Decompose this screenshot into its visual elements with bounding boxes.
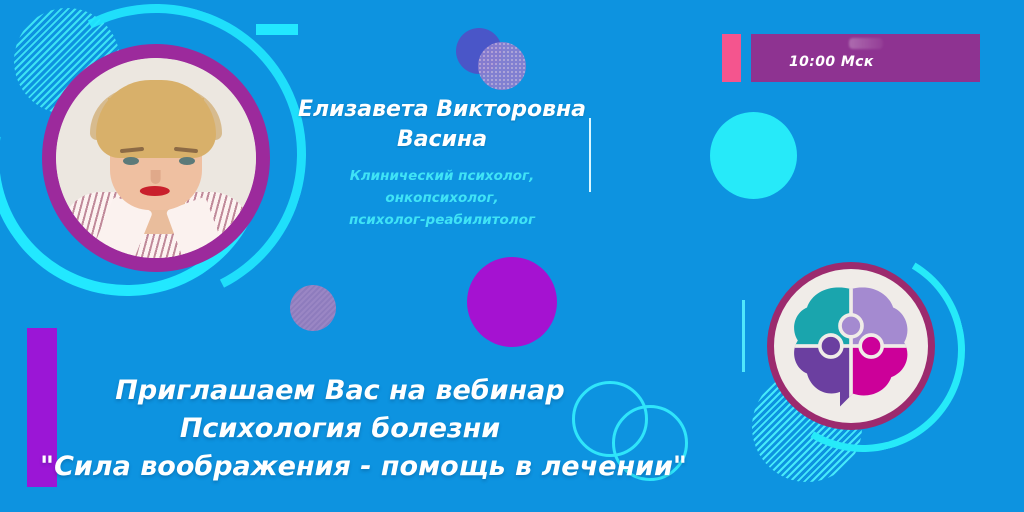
erased-date-smudge [849, 38, 883, 49]
photo-eye-left [123, 157, 139, 165]
speaker-role-line2: онкопсихолог, [385, 190, 498, 206]
brain-puzzle-icon [774, 269, 928, 423]
headline-line1: Приглашаем Вас на вебинар [40, 372, 640, 410]
time-label: 10:00 Мск [789, 54, 874, 70]
speaker-role-line1: Клинический психолог, [350, 168, 535, 184]
photo-eye-right [179, 157, 195, 165]
speaker-role: Клинический психолог, онкопсихолог, псих… [292, 165, 592, 231]
webinar-poster: Елизавета Викторовна Васина Клинический … [0, 0, 1024, 512]
avatar [56, 58, 256, 258]
photo-fringe [108, 98, 204, 124]
circle-decor-blue-icon [456, 28, 502, 74]
speaker-name-line2: Васина [397, 127, 487, 152]
pink-accent-bar [722, 34, 741, 82]
brain-puzzle-logo [767, 262, 935, 430]
photo-nose [151, 170, 161, 184]
headline-line3: "Сила воображения - помощь в лечении" [40, 448, 640, 486]
photo-lips [140, 186, 170, 196]
cyan-rect-decor-icon [256, 24, 298, 35]
schedule-badge: 10:00 Мск [751, 34, 980, 82]
speaker-role-line3: психолог-реабилитолог [349, 212, 535, 228]
speaker-name-line1: Елизавета Викторовна [298, 97, 586, 122]
page-title: Приглашаем Вас на вебинар Психология бол… [40, 372, 640, 486]
circle-decor-dusty-icon [290, 285, 336, 331]
divider-line-vertical-2 [742, 300, 745, 372]
headline-line2: Психология болезни [40, 410, 640, 448]
circle-decor-violet-icon [467, 257, 557, 347]
circle-decor-dotted-icon [478, 42, 526, 90]
speaker-photo [42, 44, 270, 272]
speaker-name: Елизавета Викторовна Васина [292, 95, 592, 155]
circle-decor-cyan-icon [710, 112, 797, 199]
